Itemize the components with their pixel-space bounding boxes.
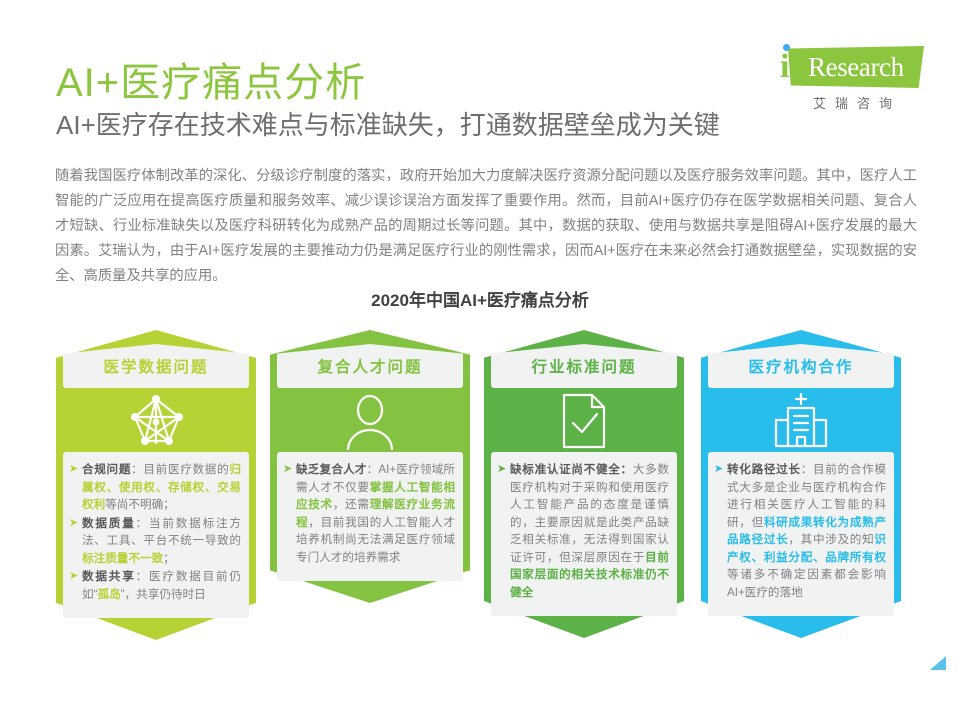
card-content: 医学数据问题 ➤合规问题：目前医疗数据的归属权、使用权、存储权、交易权利等尚不明… xyxy=(56,344,256,618)
iresearch-logo: i Research 艾瑞咨询 xyxy=(774,44,924,112)
document-check-icon xyxy=(484,390,684,452)
card-bullet-list: ➤合规问题：目前医疗数据的归属权、使用权、存储权、交易权利等尚不明确；➤数据质量… xyxy=(63,452,249,618)
bullet-arrow-icon: ➤ xyxy=(283,461,296,566)
logo-letter-i: i xyxy=(780,50,789,84)
card-heading: 复合人才问题 xyxy=(277,344,463,388)
bullet-arrow-icon: ➤ xyxy=(714,461,727,601)
card-content: 医疗机构合作 ➤转化路径过长：目前的合作模式大多是企业与医疗机构合作进行相关医疗… xyxy=(701,344,901,616)
card-content: 复合人才问题 ➤缺乏复合人才：AI+医疗领域所需人才不仅要掌握人工智能相应技术，… xyxy=(270,344,470,581)
slide-root: i Research 艾瑞咨询 AI+医疗痛点分析 AI+医疗存在技术难点与标准… xyxy=(0,0,960,720)
chart-title: 2020年中国AI+医疗痛点分析 xyxy=(0,286,960,311)
pain-point-card-medical-data-issues[interactable]: 医学数据问题 ➤合规问题：目前医疗数据的归属权、使用权、存储权、交易权利等尚不明… xyxy=(56,330,256,618)
card-bullet-item: ➤缺标准认证尚不健全：大多数医疗机构对于采购和使用医疗人工智能产品的态度是谨慎的… xyxy=(497,461,669,601)
card-bullet-text: 缺标准认证尚不健全：大多数医疗机构对于采购和使用医疗人工智能产品的态度是谨慎的，… xyxy=(510,461,669,601)
card-heading-text: 医疗机构合作 xyxy=(748,355,853,377)
page-subtitle: AI+医疗存在技术难点与标准缺失，打通数据壁垒成为关键 xyxy=(56,105,720,142)
corner-triangle-decoration xyxy=(930,656,946,670)
card-bullet-item: ➤缺乏复合人才：AI+医疗领域所需人才不仅要掌握人工智能相应技术，还需理解医疗业… xyxy=(283,461,455,566)
card-heading: 医疗机构合作 xyxy=(708,344,894,388)
bullet-arrow-icon: ➤ xyxy=(69,515,82,568)
pain-point-card-industry-standard-issues[interactable]: 行业标准问题 ➤缺标准认证尚不健全：大多数医疗机构对于采购和使用医疗人工智能产品… xyxy=(484,330,684,616)
hospital-icon xyxy=(701,390,901,452)
card-heading: 行业标准问题 xyxy=(491,344,677,388)
card-bullet-item: ➤转化路径过长：目前的合作模式大多是企业与医疗机构合作进行相关医疗人工智能的科研… xyxy=(714,461,886,601)
bullet-arrow-icon: ➤ xyxy=(69,461,82,514)
card-bullet-item: ➤数据质量：当前数据标注方法、工具、平台不统一导致的标注质量不一致； xyxy=(69,515,241,568)
card-heading-text: 复合人才问题 xyxy=(317,355,422,377)
card-bullet-text: 数据共享：医疗数据目前仍如“孤岛”，共享仍待时日 xyxy=(82,568,241,603)
card-heading-text: 行业标准问题 xyxy=(531,355,636,377)
bullet-arrow-icon: ➤ xyxy=(497,461,510,601)
card-bullet-item: ➤数据共享：医疗数据目前仍如“孤岛”，共享仍待时日 xyxy=(69,568,241,603)
logo-mark: i Research xyxy=(774,44,924,90)
network-graph-icon xyxy=(56,390,256,452)
pain-point-card-medical-institution-cooperation[interactable]: 医疗机构合作 ➤转化路径过长：目前的合作模式大多是企业与医疗机构合作进行相关医疗… xyxy=(701,330,901,616)
logo-wordmark: Research xyxy=(808,52,904,83)
card-content: 行业标准问题 ➤缺标准认证尚不健全：大多数医疗机构对于采购和使用医疗人工智能产品… xyxy=(484,344,684,616)
page-title: AI+医疗痛点分析 xyxy=(56,50,366,108)
person-icon xyxy=(270,390,470,452)
card-heading: 医学数据问题 xyxy=(63,344,249,388)
card-bullet-list: ➤缺标准认证尚不健全：大多数医疗机构对于采购和使用医疗人工智能产品的态度是谨慎的… xyxy=(491,452,677,616)
card-bullet-text: 数据质量：当前数据标注方法、工具、平台不统一导致的标注质量不一致； xyxy=(82,515,241,568)
card-bullet-list: ➤缺乏复合人才：AI+医疗领域所需人才不仅要掌握人工智能相应技术，还需理解医疗业… xyxy=(277,452,463,581)
card-bullet-text: 缺乏复合人才：AI+医疗领域所需人才不仅要掌握人工智能相应技术，还需理解医疗业务… xyxy=(296,461,455,566)
intro-paragraph: 随着我国医疗体制改革的深化、分级诊疗制度的落实，政府开始加大力度解决医疗资源分配… xyxy=(55,164,917,289)
logo-chinese-name: 艾瑞咨询 xyxy=(774,93,924,112)
card-bullet-text: 转化路径过长：目前的合作模式大多是企业与医疗机构合作进行相关医疗人工智能的科研，… xyxy=(727,461,886,601)
card-bullet-list: ➤转化路径过长：目前的合作模式大多是企业与医疗机构合作进行相关医疗人工智能的科研… xyxy=(708,452,894,616)
card-bullet-text: 合规问题：目前医疗数据的归属权、使用权、存储权、交易权利等尚不明确； xyxy=(82,461,241,514)
bullet-arrow-icon: ➤ xyxy=(69,568,82,603)
card-heading-text: 医学数据问题 xyxy=(103,355,208,377)
pain-point-card-composite-talent-issues[interactable]: 复合人才问题 ➤缺乏复合人才：AI+医疗领域所需人才不仅要掌握人工智能相应技术，… xyxy=(270,330,470,581)
card-bullet-item: ➤合规问题：目前医疗数据的归属权、使用权、存储权、交易权利等尚不明确； xyxy=(69,461,241,514)
pain-point-card-row: 医学数据问题 ➤合规问题：目前医疗数据的归属权、使用权、存储权、交易权利等尚不明… xyxy=(56,330,912,670)
